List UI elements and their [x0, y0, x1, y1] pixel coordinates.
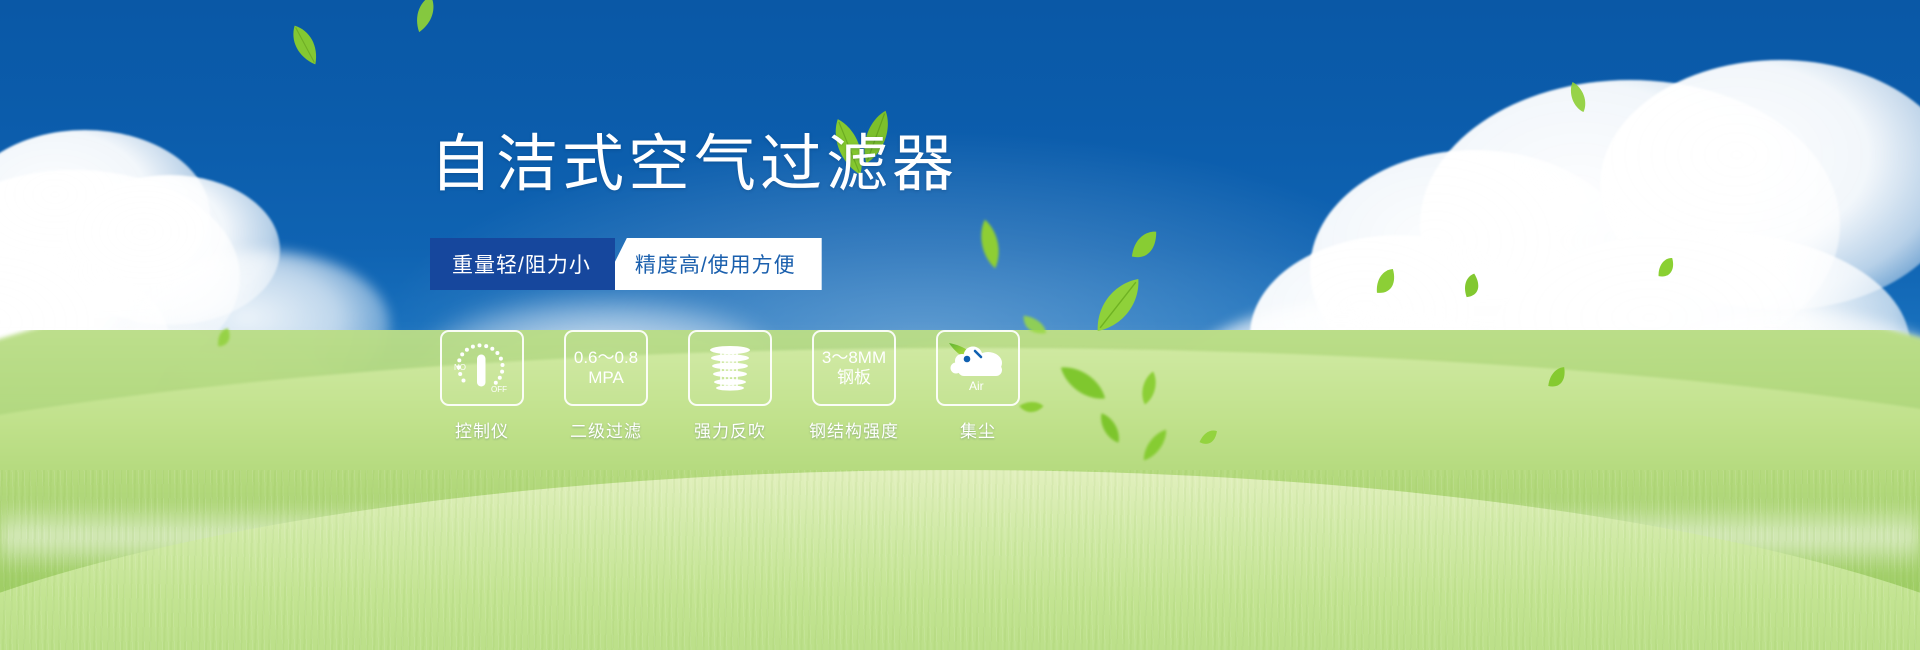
air-label: Air: [969, 379, 984, 393]
feature-caption: 钢结构强度: [809, 417, 899, 442]
product-hero-banner: 自洁式空气过滤器 重量轻/阻力小 精度高/使用方便: [0, 0, 1920, 650]
feature-item-control-instrument[interactable]: NO OFF 控制仪: [438, 330, 526, 442]
feature-item-two-stage-filtration[interactable]: 0.6～0.8 MPA 二级过滤: [562, 330, 650, 442]
dial-on-label: NO: [454, 363, 466, 372]
steel-thickness-line2: 钢板: [837, 368, 871, 388]
control-dial-icon: NO OFF: [451, 340, 513, 396]
page-title: 自洁式空气过滤器: [430, 134, 958, 196]
pressure-range-line1: 0.6～0.8: [574, 348, 638, 368]
pressure-range-line2: MPA: [588, 368, 624, 388]
feature-item-steel-structure-strength[interactable]: 3～8MM 钢板 钢结构强度: [810, 330, 898, 442]
feature-caption: 控制仪: [455, 417, 509, 442]
feature-icon-row: NO OFF 控制仪 0.6～0.8 MPA 二级过滤: [438, 330, 1022, 442]
filter-cartridge-icon: [702, 341, 758, 395]
feature-caption: 二级过滤: [570, 417, 642, 442]
feature-item-dust-collection[interactable]: Air 集尘: [934, 330, 1022, 442]
air-cloud-icon: Air: [945, 340, 1011, 396]
feature-tab-bar: 重量轻/阻力小 精度高/使用方便: [430, 238, 822, 290]
dial-off-label: OFF: [491, 385, 507, 394]
feature-box: [688, 330, 772, 406]
feature-box: 0.6～0.8 MPA: [564, 330, 648, 406]
steel-thickness-line1: 3～8MM: [822, 348, 886, 368]
feature-caption: 集尘: [960, 417, 996, 442]
banner-content: 自洁式空气过滤器 重量轻/阻力小 精度高/使用方便: [0, 0, 1920, 650]
feature-item-strong-blowback[interactable]: 强力反吹: [686, 330, 774, 442]
feature-box: Air: [936, 330, 1020, 406]
feature-caption: 强力反吹: [694, 417, 766, 442]
feature-box: 3～8MM 钢板: [812, 330, 896, 406]
tab-precision-easyuse[interactable]: 精度高/使用方便: [601, 238, 822, 290]
feature-box: NO OFF: [440, 330, 524, 406]
tab-lightweight-lowresistance[interactable]: 重量轻/阻力小: [430, 238, 615, 290]
